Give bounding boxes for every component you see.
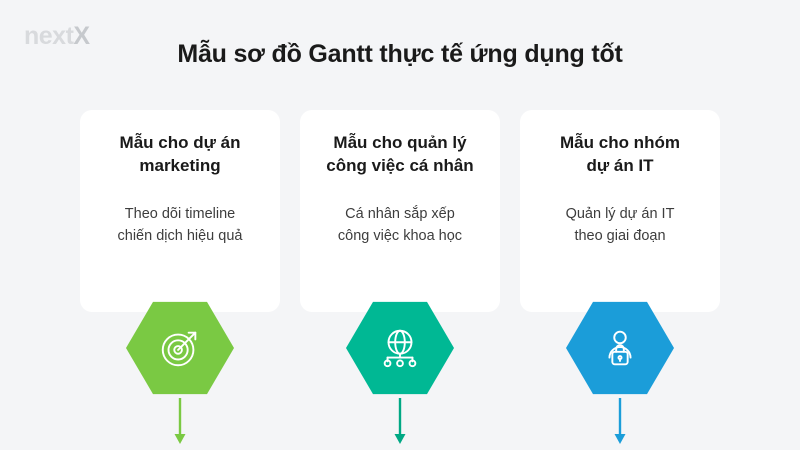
global-network-icon [377, 325, 423, 371]
hexagon-badge-personal-work [346, 300, 454, 396]
down-arrow-it-team [613, 398, 627, 446]
hexagon-badge-marketing [126, 300, 234, 396]
card-list: Mẫu cho dự án marketing Theo dõi timelin… [80, 110, 720, 312]
card-personal-work: Mẫu cho quản lý công việc cá nhân Cá nhâ… [300, 110, 500, 312]
user-lock-icon [597, 325, 643, 371]
hexagon-column-marketing [80, 300, 280, 446]
down-arrow-personal-work [393, 398, 407, 446]
hexagon-badge-it-team [566, 300, 674, 396]
card-title: Mẫu cho dự án marketing [96, 132, 264, 178]
page-title: Mẫu sơ đồ Gantt thực tế ứng dụng tốt [0, 40, 800, 69]
hexagon-icon-row [80, 300, 720, 446]
down-arrow-marketing [173, 398, 187, 446]
card-description: Cá nhân sắp xếp công việc khoa học [316, 204, 484, 248]
card-title: Mẫu cho quản lý công việc cá nhân [316, 132, 484, 178]
card-description: Theo dõi timeline chiến dịch hiệu quả [96, 204, 264, 248]
hexagon-column-it-team [520, 300, 720, 446]
card-marketing: Mẫu cho dự án marketing Theo dõi timelin… [80, 110, 280, 312]
card-description: Quản lý dự án IT theo giai đoạn [536, 204, 704, 248]
card-title: Mẫu cho nhóm dự án IT [536, 132, 704, 178]
card-it-team: Mẫu cho nhóm dự án IT Quản lý dự án IT t… [520, 110, 720, 312]
hexagon-column-personal-work [300, 300, 500, 446]
target-arrow-icon [157, 325, 203, 371]
